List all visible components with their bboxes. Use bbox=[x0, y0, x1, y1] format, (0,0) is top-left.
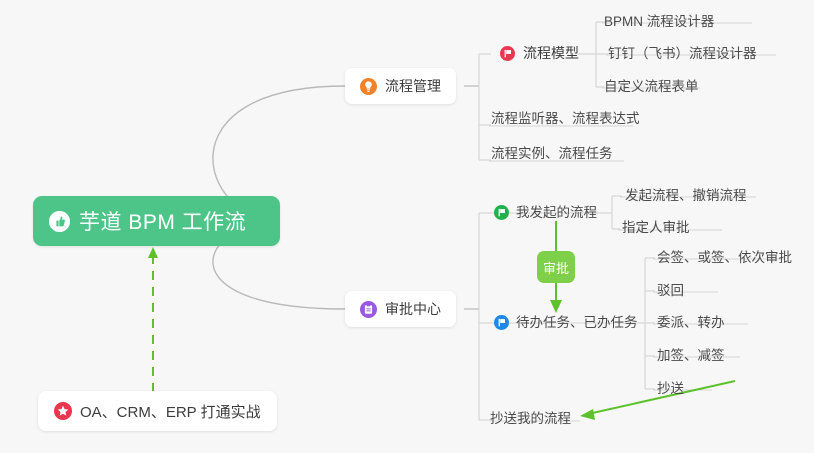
root-node[interactable]: 芋道 BPM 工作流 bbox=[33, 196, 280, 246]
node-process-model[interactable]: 流程模型 bbox=[487, 36, 592, 70]
flag-icon bbox=[500, 46, 515, 61]
leaf-assignee-approval[interactable]: 指定人审批 bbox=[622, 221, 690, 235]
mindmap-canvas: 芋道 BPM 工作流 流程管理 流程模型 BPMN 流程设计器 钉钉（飞书）流程… bbox=[0, 0, 814, 453]
branch-node-process-management[interactable]: 流程管理 bbox=[345, 68, 456, 104]
leaf-add-remove-sign[interactable]: 加签、减签 bbox=[657, 349, 725, 363]
lightbulb-icon bbox=[360, 78, 377, 95]
leaf-delegate-transfer[interactable]: 委派、转办 bbox=[657, 316, 725, 330]
leaf-custom-form[interactable]: 自定义流程表单 bbox=[604, 80, 699, 94]
approval-callout[interactable]: 审批 bbox=[537, 251, 575, 283]
node-label-process-model: 流程模型 bbox=[523, 43, 579, 63]
footer-node[interactable]: OA、CRM、ERP 打通实战 bbox=[38, 391, 277, 431]
node-my-initiated[interactable]: 我发起的流程 bbox=[494, 205, 597, 220]
node-label-todo-done-tasks: 待办任务、已办任务 bbox=[516, 316, 638, 330]
leaf-reject[interactable]: 驳回 bbox=[657, 284, 684, 298]
branch-label-approval-center: 审批中心 bbox=[385, 299, 441, 319]
leaf-process-instance[interactable]: 流程实例、流程任务 bbox=[491, 147, 613, 161]
node-label-my-initiated: 我发起的流程 bbox=[516, 206, 597, 220]
flag-icon bbox=[494, 205, 509, 220]
thumbs-up-icon bbox=[49, 211, 70, 232]
root-label: 芋道 BPM 工作流 bbox=[79, 206, 246, 236]
footer-arrow bbox=[148, 247, 158, 392]
branch-label-process-management: 流程管理 bbox=[385, 76, 441, 96]
leaf-cc[interactable]: 抄送 bbox=[657, 382, 684, 396]
leaf-cc-to-me[interactable]: 抄送我的流程 bbox=[490, 412, 571, 426]
branch-node-approval-center[interactable]: 审批中心 bbox=[345, 291, 456, 327]
leaf-dingtalk-designer[interactable]: 钉钉（飞书）流程设计器 bbox=[608, 47, 757, 61]
leaf-start-cancel-process[interactable]: 发起流程、撤销流程 bbox=[625, 189, 747, 203]
star-icon bbox=[54, 402, 72, 420]
leaf-process-listener[interactable]: 流程监听器、流程表达式 bbox=[491, 112, 640, 126]
approval-callout-label: 审批 bbox=[543, 258, 569, 277]
flag-icon bbox=[494, 315, 509, 330]
leaf-bpmn-designer[interactable]: BPMN 流程设计器 bbox=[604, 15, 714, 29]
clipboard-icon bbox=[360, 301, 377, 318]
node-todo-done-tasks[interactable]: 待办任务、已办任务 bbox=[494, 315, 638, 330]
footer-node-label: OA、CRM、ERP 打通实战 bbox=[80, 401, 261, 422]
leaf-multi-sign[interactable]: 会签、或签、依次审批 bbox=[657, 251, 792, 265]
